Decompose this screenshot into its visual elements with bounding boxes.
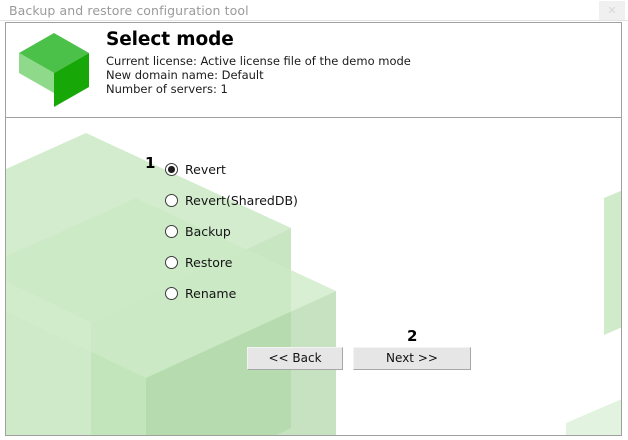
page-title: Select mode: [106, 29, 411, 50]
back-button[interactable]: << Back: [247, 347, 343, 370]
radio-option-backup[interactable]: Backup: [165, 216, 298, 247]
close-icon[interactable]: ✕: [599, 1, 625, 20]
mode-radio-group: Revert Revert(SharedDB) Backup Restore R: [165, 154, 298, 309]
wizard-content-frame: Select mode Current license: Active lice…: [5, 22, 622, 436]
radio-option-restore[interactable]: Restore: [165, 247, 298, 278]
radio-option-revert[interactable]: Revert: [165, 154, 298, 185]
radio-option-revert-shareddb[interactable]: Revert(SharedDB): [165, 185, 298, 216]
radio-mark-icon[interactable]: [165, 163, 178, 176]
next-button[interactable]: Next >>: [353, 347, 471, 370]
license-info-line: Current license: Active license file of …: [106, 54, 411, 68]
radio-mark-icon[interactable]: [165, 225, 178, 238]
wizard-button-row: << Back Next >>: [247, 347, 471, 370]
header-text-block: Select mode Current license: Active lice…: [106, 29, 411, 96]
wizard-body: 1 Revert Revert(SharedDB) Backup Restore: [6, 118, 621, 436]
close-glyph: ✕: [607, 5, 616, 16]
window-title-text: Backup and restore configuration tool: [9, 3, 249, 18]
radio-label-restore: Restore: [185, 255, 232, 270]
server-count-info-line: Number of servers: 1: [106, 82, 411, 96]
radio-option-rename[interactable]: Rename: [165, 278, 298, 309]
radio-label-revert: Revert: [185, 162, 226, 177]
radio-label-revert-shareddb: Revert(SharedDB): [185, 193, 298, 208]
radio-label-backup: Backup: [185, 224, 231, 239]
radio-label-rename: Rename: [185, 286, 236, 301]
annotation-marker-2: 2: [407, 327, 417, 345]
domain-info-line: New domain name: Default: [106, 68, 411, 82]
wizard-header: Select mode Current license: Active lice…: [6, 23, 621, 118]
annotation-marker-1: 1: [145, 154, 155, 172]
window-title-bar: Backup and restore configuration tool ✕: [0, 0, 628, 21]
application-window: Backup and restore configuration tool ✕: [0, 0, 628, 440]
isometric-cube-logo-icon: [15, 27, 93, 113]
radio-mark-icon[interactable]: [165, 287, 178, 300]
radio-mark-icon[interactable]: [165, 256, 178, 269]
radio-mark-icon[interactable]: [165, 194, 178, 207]
